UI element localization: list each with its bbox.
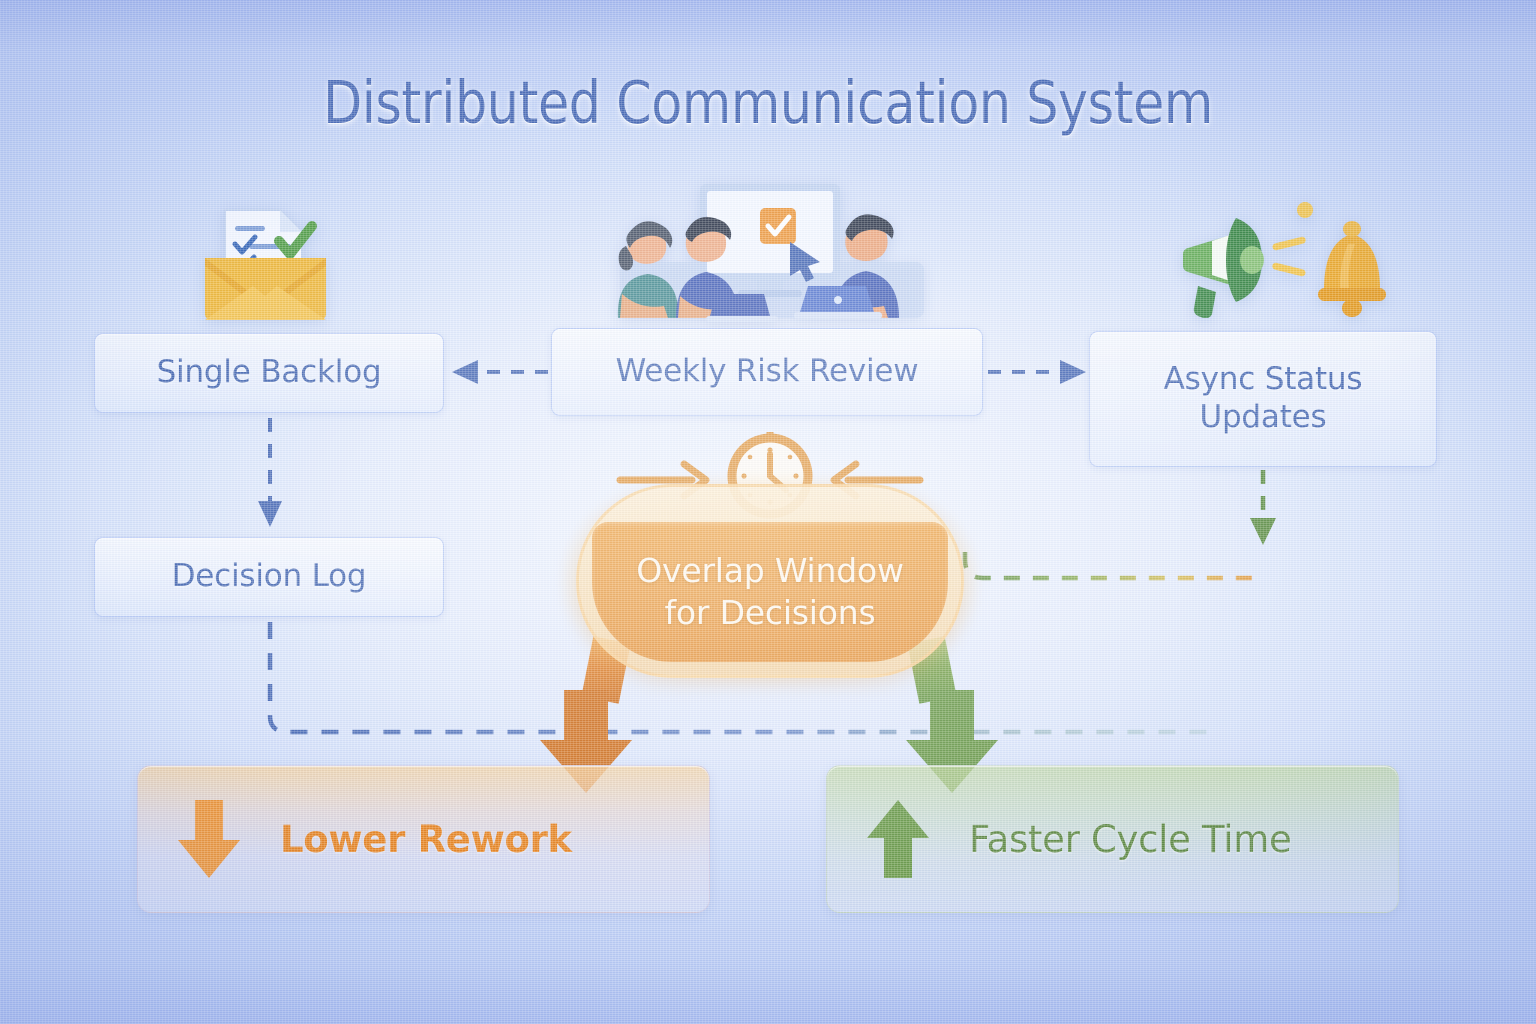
node-decision-log[interactable]: Decision Log [94,537,444,617]
node-decision-log-label: Decision Log [172,558,367,596]
connector-async-to-overlap [965,470,1276,578]
megaphone-bell-icon [1172,196,1386,318]
overlap-window-label: Overlap Window for Decisions [592,522,948,662]
node-single-backlog-label: Single Backlog [157,354,382,392]
node-weekly-risk-review[interactable]: Weekly Risk Review [551,328,983,416]
node-weekly-risk-review-label: Weekly Risk Review [616,353,919,391]
arrow-up-icon [827,796,969,882]
diagram-canvas: Distributed Communication System [0,0,1536,1024]
node-async-label-line1: Async Status [1164,361,1363,399]
page-title: Distributed Communication System [108,68,1429,137]
outcome-faster-cycle-time-label: Faster Cycle Time [969,818,1291,861]
node-single-backlog[interactable]: Single Backlog [94,333,444,413]
connector-review-to-async [988,360,1086,384]
connector-review-to-backlog [452,360,548,384]
envelope-checklist-icon [183,192,348,330]
connector-backlog-to-decision [258,418,282,527]
outcome-lower-rework[interactable]: Lower Rework [137,765,710,913]
node-async-status-updates[interactable]: Async Status Updates [1089,331,1437,467]
outcome-lower-rework-label: Lower Rework [280,818,572,861]
overlap-label-line2: for Decisions [665,592,876,634]
overlap-label-line1: Overlap Window [636,550,904,592]
outcome-faster-cycle-time[interactable]: Faster Cycle Time [826,765,1399,913]
node-async-label-line2: Updates [1164,399,1363,437]
node-overlap-window[interactable]: Overlap Window for Decisions [560,470,980,692]
team-meeting-icon [612,176,932,326]
arrow-down-icon [138,796,280,882]
